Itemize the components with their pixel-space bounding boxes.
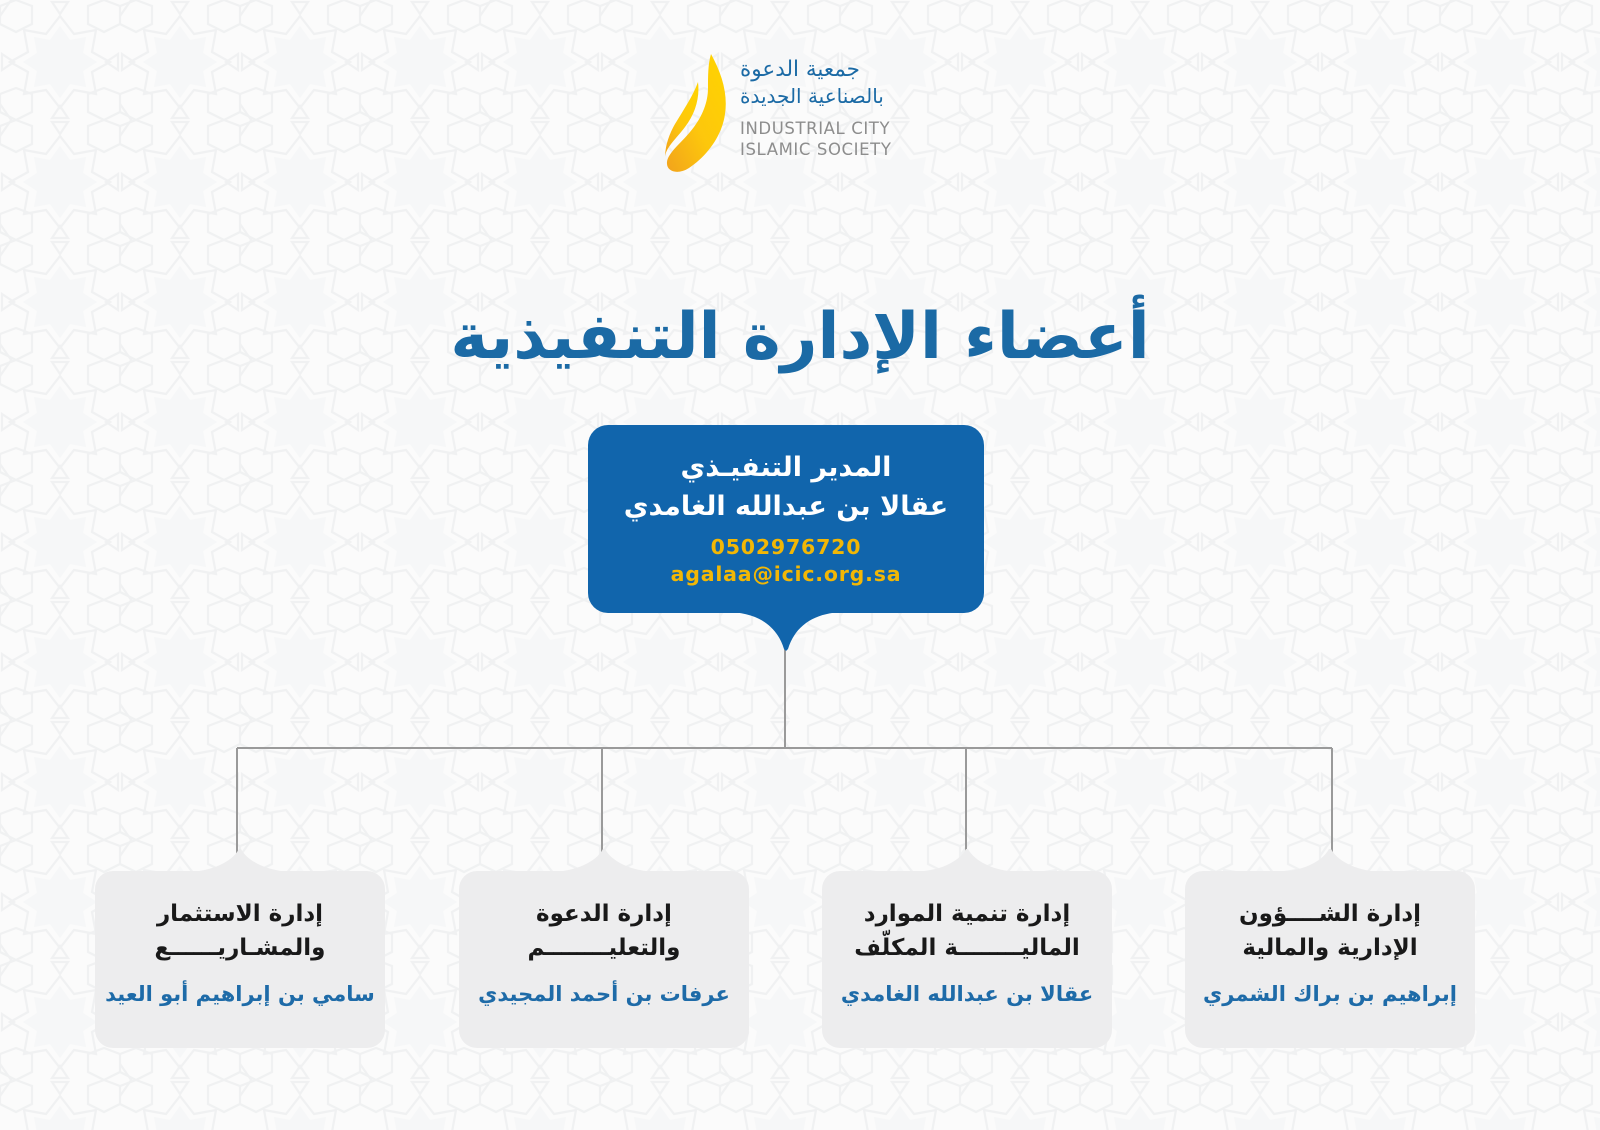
brand-logo: جمعية الدعوة بالصناعية الجديدة INDUSTRIA… [645,52,920,187]
department-card-body: إدارة الاستثمار والمشـاريــــــع سامي بن… [95,871,385,1048]
department-card-tail [549,849,659,873]
department-card-body: إدارة تنمية الموارد الماليــــــــة المك… [822,871,1112,1048]
department-person: عقالا بن عبدالله الغامدي [841,979,1093,1009]
logo-english-line2: ISLAMIC SOCIETY [740,139,920,160]
department-card[interactable]: إدارة الشــــؤون الإدارية والمالية إبراه… [1185,871,1475,1048]
department-card-tail [185,849,295,873]
ceo-card-body: المدير التنفيـذي عقالا بن عبدالله الغامد… [588,425,984,613]
department-person: عرفات بن أحمد المجيدي [478,979,730,1009]
logo-text-block: جمعية الدعوة بالصناعية الجديدة INDUSTRIA… [740,52,920,160]
department-title: إدارة تنمية الموارد الماليــــــــة المك… [854,897,1080,965]
ceo-card[interactable]: المدير التنفيـذي عقالا بن عبدالله الغامد… [588,425,984,613]
ceo-email[interactable]: agalaa@icic.org.sa [588,561,984,588]
department-title: إدارة الدعوة والتعليــــــــم [528,897,681,965]
logo-arabic-line1: جمعية الدعوة [740,56,860,83]
department-card[interactable]: إدارة الدعوة والتعليــــــــم عرفات بن أ… [459,871,749,1048]
department-card-body: إدارة الدعوة والتعليــــــــم عرفات بن أ… [459,871,749,1048]
ceo-name: عقالا بن عبدالله الغامدي [588,487,984,527]
logo-english-line1: INDUSTRIAL CITY [740,118,920,139]
ceo-role: المدير التنفيـذي [588,449,984,487]
department-card[interactable]: إدارة تنمية الموارد الماليــــــــة المك… [822,871,1112,1048]
ceo-card-tail [726,611,846,651]
department-person: سامي بن إبراهيم أبو العيد [105,979,375,1009]
ceo-phone[interactable]: 0502976720 [588,534,984,561]
department-title: إدارة الشــــؤون الإدارية والمالية [1239,897,1421,965]
flame-icon [664,52,730,174]
department-card-tail [912,849,1022,873]
logo-arabic-line2: بالصناعية الجديدة [740,83,884,110]
department-card-body: إدارة الشــــؤون الإدارية والمالية إبراه… [1185,871,1475,1048]
department-card[interactable]: إدارة الاستثمار والمشـاريــــــع سامي بن… [95,871,385,1048]
page-title: أعضاء الإدارة التنفيذية [0,295,1600,379]
department-card-tail [1275,849,1385,873]
department-title: إدارة الاستثمار والمشـاريــــــع [155,897,326,965]
department-person: إبراهيم بن براك الشمري [1203,979,1457,1009]
